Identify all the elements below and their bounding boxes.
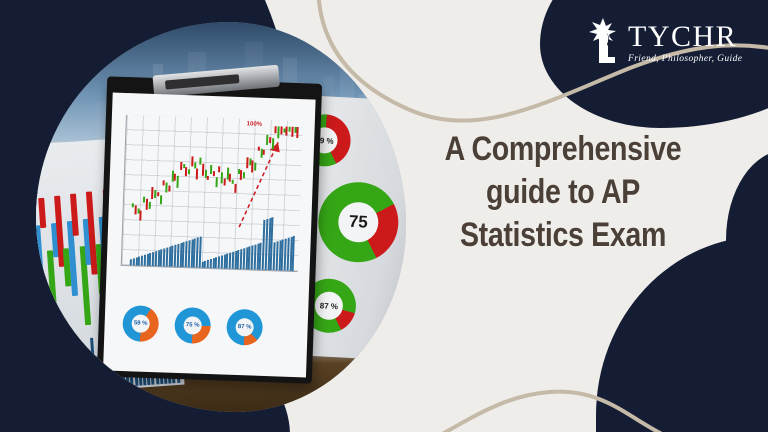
page-title: A Comprehensive guide to AP Statistics E… (429, 128, 696, 258)
logo-text-block: TYCHR Friend, Philosopher, Guide (628, 14, 742, 64)
blue-donut-1: 59 % (122, 305, 159, 342)
green-red-donut-2-value: 75 (348, 212, 368, 233)
page-title-line-1: A Comprehensive (429, 128, 696, 171)
page-title-line-3: Statistics Exam (429, 214, 696, 257)
green-red-donut-3-value: 87 % (320, 301, 339, 311)
blue-donut-2: 75 % (174, 307, 211, 344)
photo-clipboard: 100% 59 % 75 % (97, 76, 322, 383)
photo-clipboard-paper: 100% 59 % 75 % (103, 93, 316, 378)
tychr-torch-icon (586, 14, 626, 66)
photo-chart-annotation: 100% (247, 121, 263, 128)
green-red-donut-2: 75 (316, 180, 400, 264)
photo-trend-arrow-icon (235, 131, 288, 233)
blue-donut-1-value: 59 % (134, 320, 148, 326)
photo-clipboard-clamp-inner (165, 74, 240, 89)
photo-blue-donut-row: 59 % 75 % 87 % (122, 305, 263, 346)
logo-tagline: Friend, Philosopher, Guide (628, 54, 742, 64)
blue-donut-3: 87 % (226, 309, 263, 346)
page-title-line-2: guide to AP (429, 171, 696, 214)
brand-logo[interactable]: TYCHR Friend, Philosopher, Guide (586, 14, 742, 66)
hero-photo-content: 59 % 75 87 % (36, 22, 406, 412)
logo-wordmark: TYCHR (628, 22, 742, 52)
hero-photo: 59 % 75 87 % (36, 22, 406, 412)
photo-candlestick-chart: 100% (121, 115, 303, 272)
poster-canvas: 59 % 75 87 % (0, 0, 768, 432)
blue-donut-2-value: 75 % (186, 322, 200, 328)
blue-donut-3-value: 87 % (238, 324, 252, 330)
